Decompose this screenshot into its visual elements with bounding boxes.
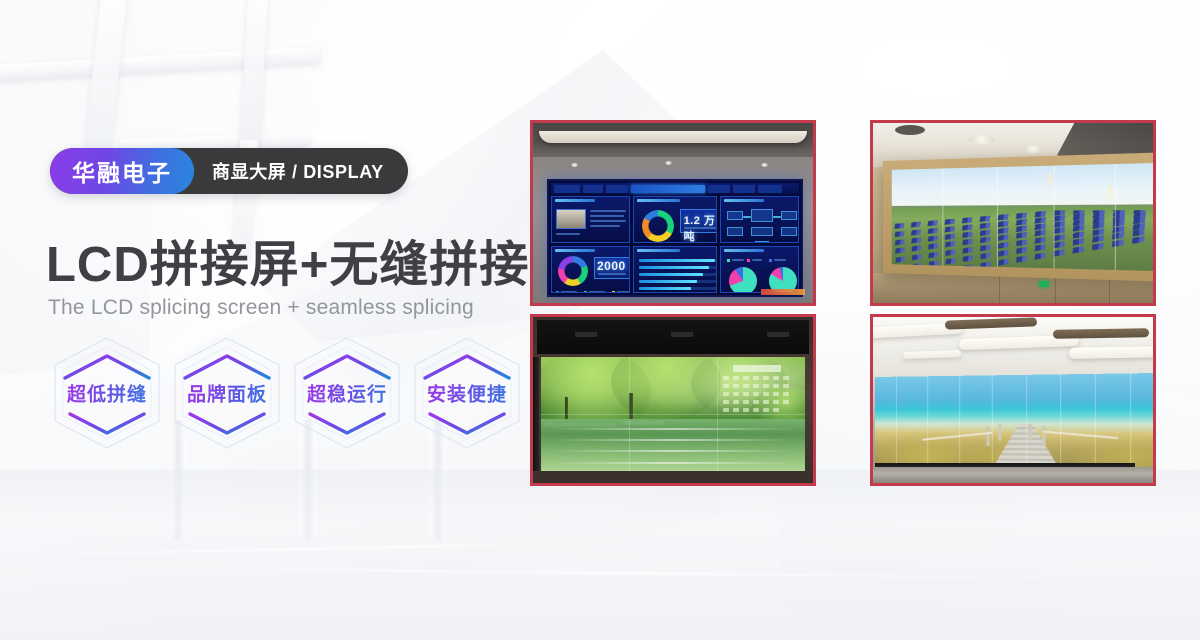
dashboard-card <box>633 246 718 293</box>
video-wall-screen <box>875 373 1153 471</box>
wood-frame <box>883 152 1153 283</box>
recessed-light <box>1023 145 1043 153</box>
dashboard-card: 2000 <box>551 246 630 293</box>
floor-line-1 <box>0 542 620 557</box>
brand-category-tag: 商显大屏 / DISPLAY <box>194 148 408 194</box>
feature-badge-label: 安装便捷 <box>408 380 526 407</box>
ceiling-beam-vertical-2 <box>239 0 268 160</box>
floor-reflection <box>0 470 1200 640</box>
photo-content <box>533 317 813 483</box>
dashboard-card <box>720 196 799 243</box>
downlight <box>761 163 768 167</box>
recessed-light <box>969 135 995 144</box>
feature-badge-list: 超低拼缝 品牌面板 超稳运行 <box>48 334 526 452</box>
product-photo-garden-video-wall[interactable] <box>530 314 816 486</box>
feature-badge[interactable]: 超低拼缝 <box>48 334 166 452</box>
video-wall-screen: 1.2 万吨 <box>547 179 803 297</box>
photo-content: 1.2 万吨 <box>533 123 813 303</box>
feature-badge[interactable]: 安装便捷 <box>408 334 526 452</box>
floor <box>873 467 1153 483</box>
banner-stage: 华融电子 商显大屏 / DISPLAY LCD拼接屏+无缝拼接 The LCD … <box>0 0 1200 640</box>
cove-light <box>539 131 807 143</box>
floor-line-2 <box>120 567 1100 579</box>
ceiling-vent <box>895 125 925 135</box>
product-photo-beach-boardwalk-video-wall[interactable] <box>870 314 1156 486</box>
kpi-value: 2000 <box>597 259 626 273</box>
video-wall-screen <box>541 357 805 471</box>
dashboard-grid: 1.2 万吨 <box>551 196 799 293</box>
feature-badge[interactable]: 超稳运行 <box>288 334 406 452</box>
downlight <box>665 161 672 165</box>
downlight <box>571 163 578 167</box>
pie-chart <box>729 267 757 293</box>
feature-badge-label: 品牌面板 <box>168 380 286 407</box>
product-photo-dashboard-video-wall[interactable]: 1.2 万吨 <box>530 120 816 306</box>
wall-top-band <box>537 320 809 354</box>
donut-chart <box>642 210 674 242</box>
page-title: LCD拼接屏+无缝拼接 <box>46 225 529 296</box>
wall-left-bezel <box>533 357 539 471</box>
page-subtitle: The LCD splicing screen + seamless splic… <box>48 296 474 320</box>
donut-chart <box>558 256 588 286</box>
photo-content <box>873 317 1153 483</box>
dashboard-card: 1.2 万吨 <box>633 196 718 243</box>
ceiling-beam-horizontal-1 <box>0 47 320 81</box>
dashboard-card <box>551 196 630 243</box>
brand-pill: 华融电子 商显大屏 / DISPLAY <box>50 148 408 194</box>
exit-sign-icon <box>1039 281 1049 287</box>
ceiling-light-bar <box>1069 346 1153 359</box>
screen-watermark <box>761 289 805 295</box>
video-wall-screen <box>892 162 1153 271</box>
brand-name-chip: 华融电子 <box>50 148 194 194</box>
feature-badge[interactable]: 品牌面板 <box>168 334 286 452</box>
dashboard-topbar <box>551 183 799 194</box>
dashboard-card <box>720 246 799 293</box>
feature-badge-label: 超稳运行 <box>288 380 406 407</box>
product-photo-solar-farm-video-wall[interactable] <box>870 120 1156 306</box>
feature-badge-label: 超低拼缝 <box>48 380 166 407</box>
photo-content <box>873 123 1153 303</box>
ceiling-beam-dark <box>1053 328 1149 339</box>
